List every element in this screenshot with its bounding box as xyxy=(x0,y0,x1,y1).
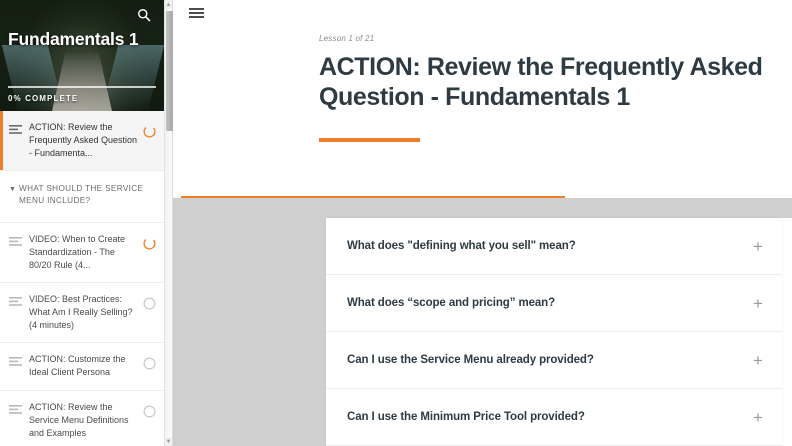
page-title: ACTION: Review the Frequently Asked Ques… xyxy=(319,52,789,112)
status-in-progress-icon xyxy=(143,237,156,255)
faq-item[interactable]: Can I use the Minimum Price Tool provide… xyxy=(326,389,782,446)
lesson-lines-icon xyxy=(9,355,23,373)
scrollbar-thumb[interactable] xyxy=(166,11,173,131)
faq-item[interactable]: What does “scope and pricing” mean? + xyxy=(326,275,782,332)
lesson-lines-icon xyxy=(9,123,23,141)
content-topbar xyxy=(173,0,792,34)
course-progress: 0% COMPLETE xyxy=(8,86,156,103)
faq-question: Can I use the Service Menu already provi… xyxy=(347,354,750,366)
plus-icon[interactable]: + xyxy=(750,352,766,369)
plus-icon[interactable]: + xyxy=(750,238,766,255)
plus-icon[interactable]: + xyxy=(750,295,766,312)
lesson-section-header[interactable]: ▼ What should the Service Menu include? xyxy=(0,171,164,223)
progress-track xyxy=(8,86,156,88)
lesson-list-item-label: ACTION: Review the Service Menu Definiti… xyxy=(29,401,143,440)
faq-question: Can I use the Minimum Price Tool provide… xyxy=(347,411,750,423)
lesson-list-item[interactable]: VIDEO: Best Practices: What Am I Really … xyxy=(0,283,164,343)
caret-down-icon: ▼ xyxy=(9,186,19,193)
faq-item[interactable]: Can I use the Service Menu already provi… xyxy=(326,332,782,389)
course-sidebar: Fundamentals 1 0% COMPLETE ACTION: xyxy=(0,0,164,446)
faq-content-area: What does "defining what you sell" mean?… xyxy=(173,198,792,446)
course-hero-banner: Fundamentals 1 0% COMPLETE xyxy=(0,0,164,111)
status-in-progress-icon xyxy=(143,125,156,143)
chevron-down-icon[interactable]: ▼ xyxy=(165,437,172,446)
faq-question: What does “scope and pricing” mean? xyxy=(347,297,750,309)
faq-question: What does "defining what you sell" mean? xyxy=(347,240,750,252)
plus-icon[interactable]: + xyxy=(750,409,766,426)
lesson-list-item[interactable]: VIDEO: When to Create Standardization - … xyxy=(0,223,164,283)
lesson-lines-icon xyxy=(9,235,23,253)
title-accent-rule xyxy=(319,138,420,142)
chevron-up-icon[interactable]: ▲ xyxy=(165,0,172,9)
lesson-list-item-label: VIDEO: Best Practices: What Am I Really … xyxy=(29,293,143,332)
sidebar-scrollbar[interactable]: ▲ ▼ xyxy=(164,0,173,446)
lesson-list-item-label: ACTION: Customize the Ideal Client Perso… xyxy=(29,353,143,379)
lesson-lines-icon xyxy=(9,295,23,313)
lesson-list-item[interactable]: ACTION: Customize the Ideal Client Perso… xyxy=(0,343,164,391)
lesson-lines-icon xyxy=(9,403,23,421)
lesson-list-item[interactable]: ACTION: Review the Service Menu Definiti… xyxy=(0,391,164,446)
content-gray-gutter xyxy=(173,198,326,446)
status-not-started-icon xyxy=(143,405,156,423)
status-not-started-icon xyxy=(143,357,156,375)
progress-label: 0% COMPLETE xyxy=(8,94,156,103)
status-not-started-icon xyxy=(143,297,156,315)
lesson-content: Lesson 1 of 21 ACTION: Review the Freque… xyxy=(173,0,792,446)
course-player: Fundamentals 1 0% COMPLETE ACTION: xyxy=(0,0,792,446)
lesson-header: Lesson 1 of 21 ACTION: Review the Freque… xyxy=(173,34,792,142)
lesson-list-item[interactable]: ACTION: Review the Frequently Asked Ques… xyxy=(0,111,164,171)
lesson-counter: Lesson 1 of 21 xyxy=(319,34,792,43)
faq-item[interactable]: What does "defining what you sell" mean?… xyxy=(326,218,782,275)
hamburger-bar xyxy=(189,12,204,14)
hamburger-bar xyxy=(189,8,204,10)
lesson-list-item-label: ACTION: Review the Frequently Asked Ques… xyxy=(29,121,143,160)
lesson-list: ACTION: Review the Frequently Asked Ques… xyxy=(0,111,164,446)
hamburger-bar xyxy=(189,16,204,18)
lesson-list-item-label: VIDEO: When to Create Standardization - … xyxy=(29,233,143,272)
faq-accordion: What does "defining what you sell" mean?… xyxy=(326,218,782,446)
hamburger-menu-icon[interactable] xyxy=(189,8,204,18)
lesson-section-title: What should the Service Menu include? xyxy=(19,183,154,208)
search-icon[interactable] xyxy=(134,5,154,25)
course-title: Fundamentals 1 xyxy=(8,30,138,49)
